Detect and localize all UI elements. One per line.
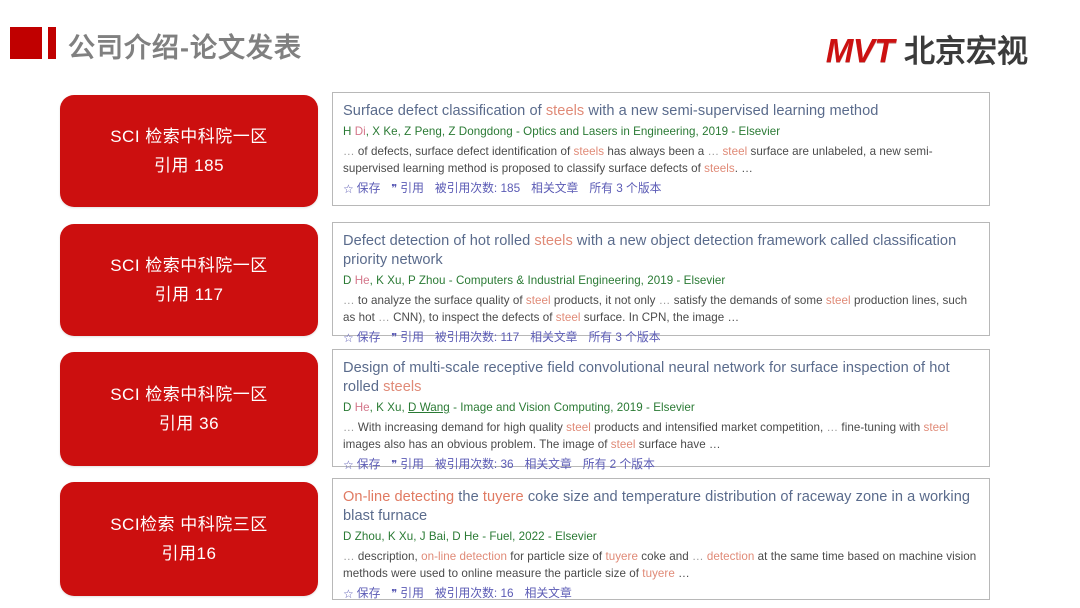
result-title[interactable]: On-line detecting the tuyere coke size a… xyxy=(343,488,977,526)
result-action-links: ☆保存❞引用被引用次数: 36相关文章所有 2 个版本 xyxy=(343,456,977,473)
result-snippet-seg-6: steel xyxy=(826,294,851,307)
logo-mark-text: MVT xyxy=(826,32,894,70)
result-meta-seg-4: - Image and Vision Computing, 2019 - Els… xyxy=(450,401,695,414)
result-snippet-seg-7: images also has an obvious problem. The … xyxy=(343,438,611,451)
related-articles-link[interactable]: 相关文章 xyxy=(525,456,572,473)
result-snippet-seg-9: tuyere xyxy=(642,567,675,580)
result-snippet: … to analyze the surface quality of stee… xyxy=(343,293,977,326)
index-card-1[interactable]: SCI 检索中科院一区引用 185 xyxy=(60,95,318,207)
result-snippet-seg-9: CNN), to inspect the defects of xyxy=(393,311,556,324)
result-snippet-seg-5: fine-tuning with xyxy=(841,421,923,434)
cited-by-link-label: 被引用次数: 185 xyxy=(435,180,520,197)
slide-header: 公司介绍-论文发表 MVT 北京宏视 xyxy=(0,0,1080,84)
all-versions-link[interactable]: 所有 2 个版本 xyxy=(583,456,655,473)
star-icon: ☆ xyxy=(343,588,354,600)
save-link-label: 保存 xyxy=(357,180,381,197)
header-decoration xyxy=(10,27,56,59)
all-versions-link[interactable]: 所有 3 个版本 xyxy=(589,180,661,197)
save-link[interactable]: ☆保存 xyxy=(343,329,380,346)
index-card-3[interactable]: SCI 检索中科院一区引用 36 xyxy=(60,352,318,466)
result-meta-seg-0: D xyxy=(343,401,355,414)
related-articles-link-label: 相关文章 xyxy=(531,180,578,197)
save-link[interactable]: ☆保存 xyxy=(343,180,380,197)
red-square-icon xyxy=(10,27,42,59)
search-result-4: On-line detecting the tuyere coke size a… xyxy=(332,478,990,600)
all-versions-link-label: 所有 2 个版本 xyxy=(583,456,655,473)
result-snippet-seg-0: … xyxy=(343,145,358,158)
logo-chinese-text: 北京宏视 xyxy=(904,26,1028,71)
cite-link-label: 引用 xyxy=(400,180,424,197)
related-articles-link-label: 相关文章 xyxy=(525,585,572,602)
result-snippet-seg-9: surface have … xyxy=(636,438,721,451)
all-versions-link[interactable]: 所有 3 个版本 xyxy=(588,329,660,346)
result-title-seg-2: tuyere xyxy=(483,489,524,505)
related-articles-link[interactable]: 相关文章 xyxy=(530,329,577,346)
result-snippet-seg-4: … xyxy=(659,294,674,307)
red-bar-icon xyxy=(48,27,56,59)
quote-icon: ❞ xyxy=(391,588,397,599)
result-title-seg-2: with a new semi-supervised learning meth… xyxy=(584,103,878,119)
result-snippet-seg-2: on-line detection xyxy=(421,550,507,563)
index-card-citation-count: 引用16 xyxy=(162,539,217,568)
star-icon: ☆ xyxy=(343,459,354,471)
cite-link-label: 引用 xyxy=(400,329,424,346)
result-snippet-seg-2: steel xyxy=(566,421,591,434)
result-meta-seg-2: , X Ke, Z Peng, Z Dongdong - Optics and … xyxy=(366,125,780,138)
index-card-indexing-label: SCI检索 中科院三区 xyxy=(110,510,268,539)
result-snippet-seg-8: . … xyxy=(735,162,753,175)
result-snippet-seg-8: … xyxy=(378,311,393,324)
cited-by-link[interactable]: 被引用次数: 185 xyxy=(435,180,520,197)
result-snippet-seg-7: detection xyxy=(707,550,755,563)
search-result-3: Design of multi-scale receptive field co… xyxy=(332,349,990,467)
result-meta-seg-3: D Wang xyxy=(408,401,450,414)
cite-link[interactable]: ❞引用 xyxy=(391,180,424,197)
result-snippet-seg-0: … xyxy=(343,294,358,307)
save-link[interactable]: ☆保存 xyxy=(343,456,380,473)
cite-link[interactable]: ❞引用 xyxy=(391,585,424,602)
result-snippet-seg-8: steel xyxy=(611,438,636,451)
result-snippet-seg-0: … xyxy=(343,421,358,434)
result-snippet-seg-0: … xyxy=(343,550,358,563)
result-snippet-seg-3: for particle size of xyxy=(507,550,605,563)
result-snippet-seg-7: steels xyxy=(704,162,735,175)
quote-icon: ❞ xyxy=(391,332,397,343)
result-snippet-seg-1: With increasing demand for high quality xyxy=(358,421,566,434)
result-snippet-seg-3: has always been a xyxy=(604,145,707,158)
related-articles-link-label: 相关文章 xyxy=(530,329,577,346)
result-snippet: … With increasing demand for high qualit… xyxy=(343,420,977,453)
cited-by-link-label: 被引用次数: 36 xyxy=(435,456,514,473)
related-articles-link-label: 相关文章 xyxy=(525,456,572,473)
save-link-label: 保存 xyxy=(357,585,381,602)
cite-link-label: 引用 xyxy=(400,456,424,473)
index-card-indexing-label: SCI 检索中科院一区 xyxy=(110,380,268,409)
all-versions-link-label: 所有 3 个版本 xyxy=(589,180,661,197)
result-action-links: ☆保存❞引用被引用次数: 117相关文章所有 3 个版本 xyxy=(343,329,977,346)
result-action-links: ☆保存❞引用被引用次数: 185相关文章所有 3 个版本 xyxy=(343,180,977,197)
save-link-label: 保存 xyxy=(357,456,381,473)
result-snippet-seg-1: description, xyxy=(358,550,421,563)
result-title-seg-1: the xyxy=(454,489,483,505)
related-articles-link[interactable]: 相关文章 xyxy=(525,585,572,602)
index-card-indexing-label: SCI 检索中科院一区 xyxy=(110,122,268,151)
cited-by-link-label: 被引用次数: 117 xyxy=(435,329,519,346)
result-title-seg-0: Surface defect classification of xyxy=(343,103,546,119)
search-result-1: Surface defect classification of steels … xyxy=(332,92,990,206)
result-snippet: … description, on-line detection for par… xyxy=(343,549,977,582)
related-articles-link[interactable]: 相关文章 xyxy=(531,180,578,197)
cited-by-link-label: 被引用次数: 16 xyxy=(435,585,514,602)
index-card-indexing-label: SCI 检索中科院一区 xyxy=(110,251,268,280)
result-snippet-seg-5: coke and xyxy=(638,550,692,563)
search-result-2: Defect detection of hot rolled steels wi… xyxy=(332,222,990,336)
result-title-seg-0: On-line detecting xyxy=(343,489,454,505)
cited-by-link[interactable]: 被引用次数: 16 xyxy=(435,585,514,602)
result-snippet-seg-1: to analyze the surface quality of xyxy=(358,294,526,307)
result-title[interactable]: Design of multi-scale receptive field co… xyxy=(343,359,977,397)
result-snippet-seg-2: steels xyxy=(574,145,605,158)
cited-by-link[interactable]: 被引用次数: 117 xyxy=(435,329,519,346)
result-title[interactable]: Defect detection of hot rolled steels wi… xyxy=(343,232,977,270)
result-action-links: ☆保存❞引用被引用次数: 16相关文章 xyxy=(343,585,977,602)
result-authors-source: D He, K Xu, D Wang - Image and Vision Co… xyxy=(343,399,977,416)
result-authors-source: D He, K Xu, P Zhou - Computers & Industr… xyxy=(343,272,977,289)
result-title[interactable]: Surface defect classification of steels … xyxy=(343,102,977,121)
result-authors-source: D Zhou, K Xu, J Bai, D He - Fuel, 2022 -… xyxy=(343,528,977,545)
cite-link-label: 引用 xyxy=(400,585,424,602)
star-icon: ☆ xyxy=(343,183,354,195)
quote-icon: ❞ xyxy=(391,183,397,194)
all-versions-link-label: 所有 3 个版本 xyxy=(588,329,660,346)
result-meta-seg-0: D xyxy=(343,274,355,287)
index-card-citation-count: 引用 185 xyxy=(154,151,224,180)
result-meta-seg-0: D Zhou, K Xu, J Bai, D He - Fuel, 2022 -… xyxy=(343,530,597,543)
result-meta-seg-1: He xyxy=(355,401,370,414)
save-link-label: 保存 xyxy=(357,329,381,346)
index-card-4[interactable]: SCI检索 中科院三区引用16 xyxy=(60,482,318,596)
cite-link[interactable]: ❞引用 xyxy=(391,329,424,346)
result-snippet-seg-5: steel xyxy=(722,145,747,158)
result-meta-seg-0: H xyxy=(343,125,355,138)
result-title-seg-1: steels xyxy=(383,379,421,395)
result-snippet-seg-4: tuyere xyxy=(605,550,638,563)
cited-by-link[interactable]: 被引用次数: 36 xyxy=(435,456,514,473)
star-icon: ☆ xyxy=(343,332,354,344)
result-snippet-seg-3: products and intensified market competit… xyxy=(591,421,827,434)
result-snippet-seg-6: steel xyxy=(923,421,948,434)
result-title-seg-0: Defect detection of hot rolled xyxy=(343,233,534,249)
result-snippet-seg-6: … xyxy=(692,550,707,563)
result-snippet-seg-10: steel xyxy=(556,311,581,324)
result-snippet-seg-4: … xyxy=(708,145,723,158)
result-title-seg-1: steels xyxy=(546,103,584,119)
result-meta-seg-1: He xyxy=(355,274,370,287)
result-meta-seg-2: , K Xu, P Zhou - Computers & Industrial … xyxy=(370,274,726,287)
quote-icon: ❞ xyxy=(391,459,397,470)
result-snippet-seg-4: … xyxy=(827,421,842,434)
result-snippet-seg-3: products, it not only xyxy=(551,294,659,307)
result-title-seg-1: steels xyxy=(534,233,572,249)
result-snippet: … of defects, surface defect identificat… xyxy=(343,144,977,177)
save-link[interactable]: ☆保存 xyxy=(343,585,380,602)
result-title-seg-0: Design of multi-scale receptive field co… xyxy=(343,360,950,395)
cite-link[interactable]: ❞引用 xyxy=(391,456,424,473)
index-card-citation-count: 引用 36 xyxy=(159,409,219,438)
result-snippet-seg-10: … xyxy=(675,567,690,580)
result-snippet-seg-11: surface. In CPN, the image … xyxy=(581,311,740,324)
result-meta-seg-2: , K Xu, xyxy=(370,401,408,414)
index-card-citation-count: 引用 117 xyxy=(155,280,224,309)
company-logo: MVT 北京宏视 xyxy=(826,26,1028,71)
result-meta-seg-1: Di xyxy=(355,125,366,138)
result-authors-source: H Di, X Ke, Z Peng, Z Dongdong - Optics … xyxy=(343,123,977,140)
result-snippet-seg-1: of defects, surface defect identificatio… xyxy=(358,145,574,158)
result-snippet-seg-5: satisfy the demands of some xyxy=(674,294,826,307)
page-title: 公司介绍-论文发表 xyxy=(68,26,302,65)
result-snippet-seg-2: steel xyxy=(526,294,551,307)
index-card-2[interactable]: SCI 检索中科院一区引用 117 xyxy=(60,224,318,336)
